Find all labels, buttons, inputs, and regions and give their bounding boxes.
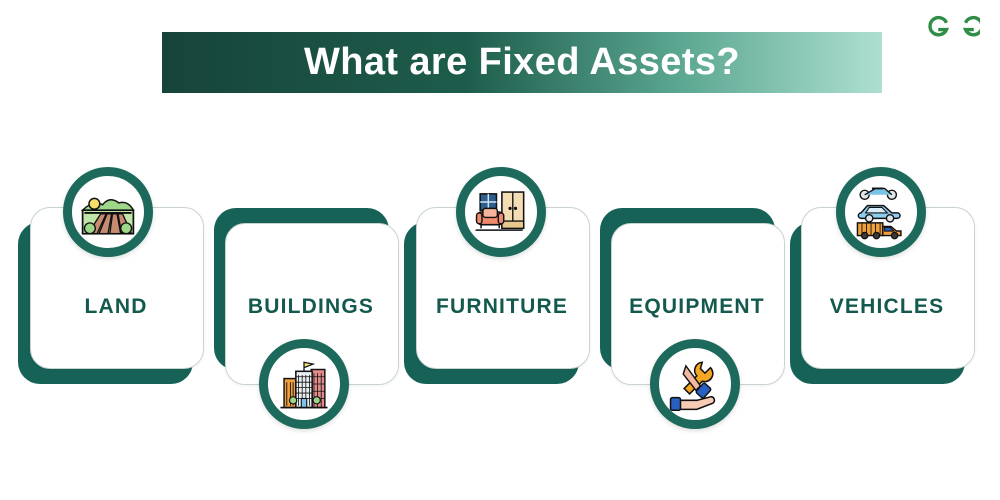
land-field-icon [63, 167, 153, 257]
motorbike-car-truck-icon [836, 167, 926, 257]
infographic-canvas: What are Fixed Assets? LAND [0, 0, 1000, 500]
sofa-wardrobe-icon [456, 167, 546, 257]
city-buildings-icon [259, 339, 349, 429]
card-label: FURNITURE [416, 295, 588, 319]
card-label: VEHICLES [801, 295, 973, 319]
hand-tools-icon [650, 339, 740, 429]
title-banner: What are Fixed Assets? [162, 32, 882, 93]
page-title: What are Fixed Assets? [304, 43, 740, 81]
geeksforgeeks-logo [924, 10, 980, 42]
card-label: BUILDINGS [225, 295, 397, 319]
card-label: EQUIPMENT [611, 295, 783, 319]
card-label: LAND [30, 295, 202, 319]
